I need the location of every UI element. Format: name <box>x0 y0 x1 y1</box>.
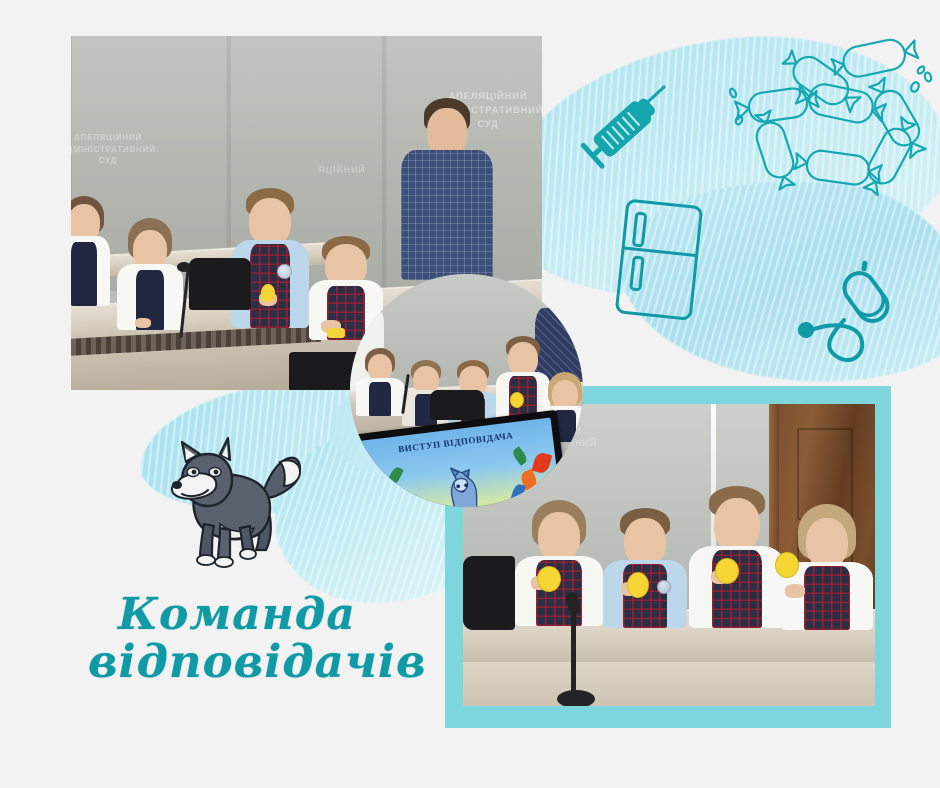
watercolor-stroke-top-right <box>486 17 940 313</box>
kid-boy-2 <box>603 508 687 628</box>
watercolor-texture-right-mid <box>611 162 940 397</box>
kid-girl-braid <box>117 218 183 330</box>
kid-left-partial <box>71 196 109 306</box>
watercolor-texture-top-right <box>486 17 940 313</box>
microphone-stem-2 <box>571 602 576 698</box>
monitor-screen: ВИСТУП ВІДПОВІДАЧА <box>358 418 562 507</box>
screen-wolf-icon <box>430 456 493 507</box>
badge-icon <box>277 264 292 279</box>
watercolor-stroke-right-mid <box>611 162 940 397</box>
poster-canvas: АПЕЛЯЦІЙНИЙ АДМІНІСТРАТИВНИЙ СУД АПЕЛЯЦІ… <box>0 0 940 788</box>
microphone-head <box>177 262 191 272</box>
kid-boy-3 <box>689 486 785 628</box>
petrykivka-left <box>365 458 429 507</box>
wolf-badge-icon-2 <box>627 572 649 598</box>
yellow-card-icon <box>327 328 345 338</box>
photo-circle: ВИСТУП ВІДПОВІДАЧА <box>350 274 583 507</box>
candies-icon <box>725 25 940 205</box>
wolf-badge-icon-1 <box>537 566 561 592</box>
school-badge-icon <box>657 580 671 594</box>
kid-c1 <box>356 348 404 416</box>
syringe-icon <box>566 75 676 185</box>
kid-girl-4 <box>781 504 873 630</box>
page-title-line1: Команда <box>88 592 488 638</box>
page-title: Команда відповідачів <box>88 592 488 685</box>
wolf-badge-icon-4 <box>775 552 799 578</box>
adult-presenter <box>401 98 493 278</box>
desk-front-2 <box>463 662 875 706</box>
wolf-badge-icon-3 <box>715 558 739 584</box>
page-title-line2: відповідачів <box>88 638 488 685</box>
refrigerator-icon <box>602 190 722 330</box>
wall-sign-center: ЯЦІЙНИЙ <box>297 164 387 177</box>
wolf-mascot-icon <box>160 432 310 572</box>
wall-sign-left: АПЕЛЯЦІЙНИЙ АДМІНІСТРАТИВНИЙ СУД <box>71 132 163 167</box>
petrykivka-right <box>493 438 557 507</box>
yellow-wolf-badge-icon <box>261 284 275 302</box>
chair-c <box>430 390 484 420</box>
wolf-badge-icon-c <box>510 392 524 408</box>
stethoscope-icon <box>792 258 912 376</box>
chair-dark <box>189 258 251 310</box>
microphone-base <box>557 690 595 706</box>
kid-girl-1 <box>515 500 603 626</box>
